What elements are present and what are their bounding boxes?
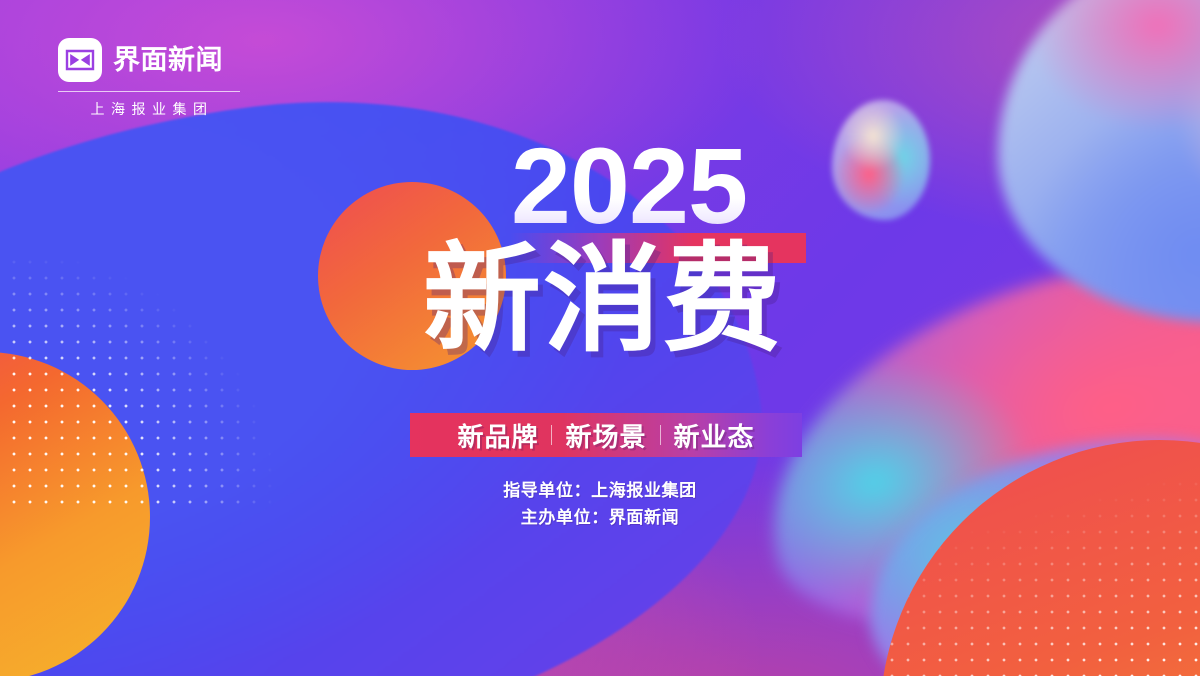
tagline-item-2: 新业态 bbox=[661, 417, 768, 454]
hero-tagline-banner: 新品牌 新场景 新业态 bbox=[410, 413, 802, 457]
tagline-item-0: 新品牌 bbox=[444, 417, 551, 454]
hero-content: 2025 新消费 新品牌 新场景 新业态 指导单位：上海报业集团 主办单位：界面… bbox=[0, 0, 1200, 676]
credit-line-guidance: 指导单位：上海报业集团 bbox=[0, 478, 1200, 505]
poster-canvas: 界面新闻 上海报业集团 2025 新消费 新品牌 新场景 新业态 指导单位：上海… bbox=[0, 0, 1200, 676]
credit-line-organizer: 主办单位：界面新闻 bbox=[0, 505, 1200, 532]
hero-headline: 新消费 bbox=[0, 234, 1200, 366]
tagline-item-1: 新场景 bbox=[552, 417, 659, 454]
hero-credits: 指导单位：上海报业集团 主办单位：界面新闻 bbox=[0, 478, 1200, 532]
hero-year: 2025 bbox=[0, 132, 1200, 240]
